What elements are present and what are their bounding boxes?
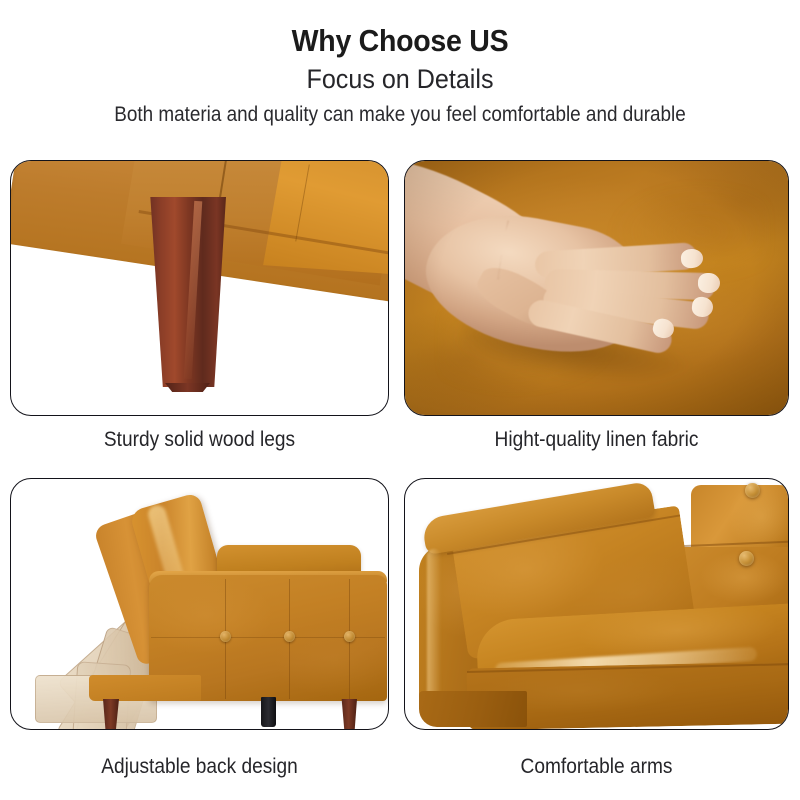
seat-front-edge [89, 675, 201, 701]
arm-base [419, 691, 527, 727]
photo-vignette [405, 161, 788, 415]
caption-adjustable-back: Adjustable back design [27, 755, 372, 779]
why-choose-us-infographic: Why Choose US Focus on Details Both mate… [0, 0, 800, 800]
tuft-button [220, 631, 231, 642]
feature-panel-sturdy-legs [10, 160, 389, 416]
wood-leg [341, 699, 357, 729]
sofa-base-side [263, 160, 389, 274]
arm-edge-highlight [427, 549, 441, 701]
feature-panel-comfortable-arms [404, 478, 789, 730]
tuft-button [745, 483, 760, 498]
caption-comfortable-arms: Comfortable arms [421, 755, 771, 779]
page-description: Both materia and quality can make you fe… [40, 102, 760, 127]
tuft-button [284, 631, 295, 642]
header-block: Why Choose US Focus on Details Both mate… [0, 0, 800, 127]
sofa-arm-photo [405, 479, 788, 729]
feature-panel-adjustable-back [10, 478, 389, 730]
sofa-leg-photo [11, 161, 388, 415]
adjustable-backrest-photo [11, 479, 388, 729]
center-support-leg [261, 697, 276, 727]
tuft-button [344, 631, 355, 642]
page-subtitle: Focus on Details [28, 64, 772, 95]
wood-leg-foot [162, 383, 213, 392]
caption-sturdy-legs: Sturdy solid wood legs [27, 428, 372, 452]
feature-panel-linen-fabric [404, 160, 789, 416]
page-title: Why Choose US [32, 24, 768, 58]
tuft-button [739, 551, 754, 566]
caption-linen-fabric: Hight-quality linen fabric [421, 428, 771, 452]
hand-on-leather-photo [405, 161, 788, 415]
